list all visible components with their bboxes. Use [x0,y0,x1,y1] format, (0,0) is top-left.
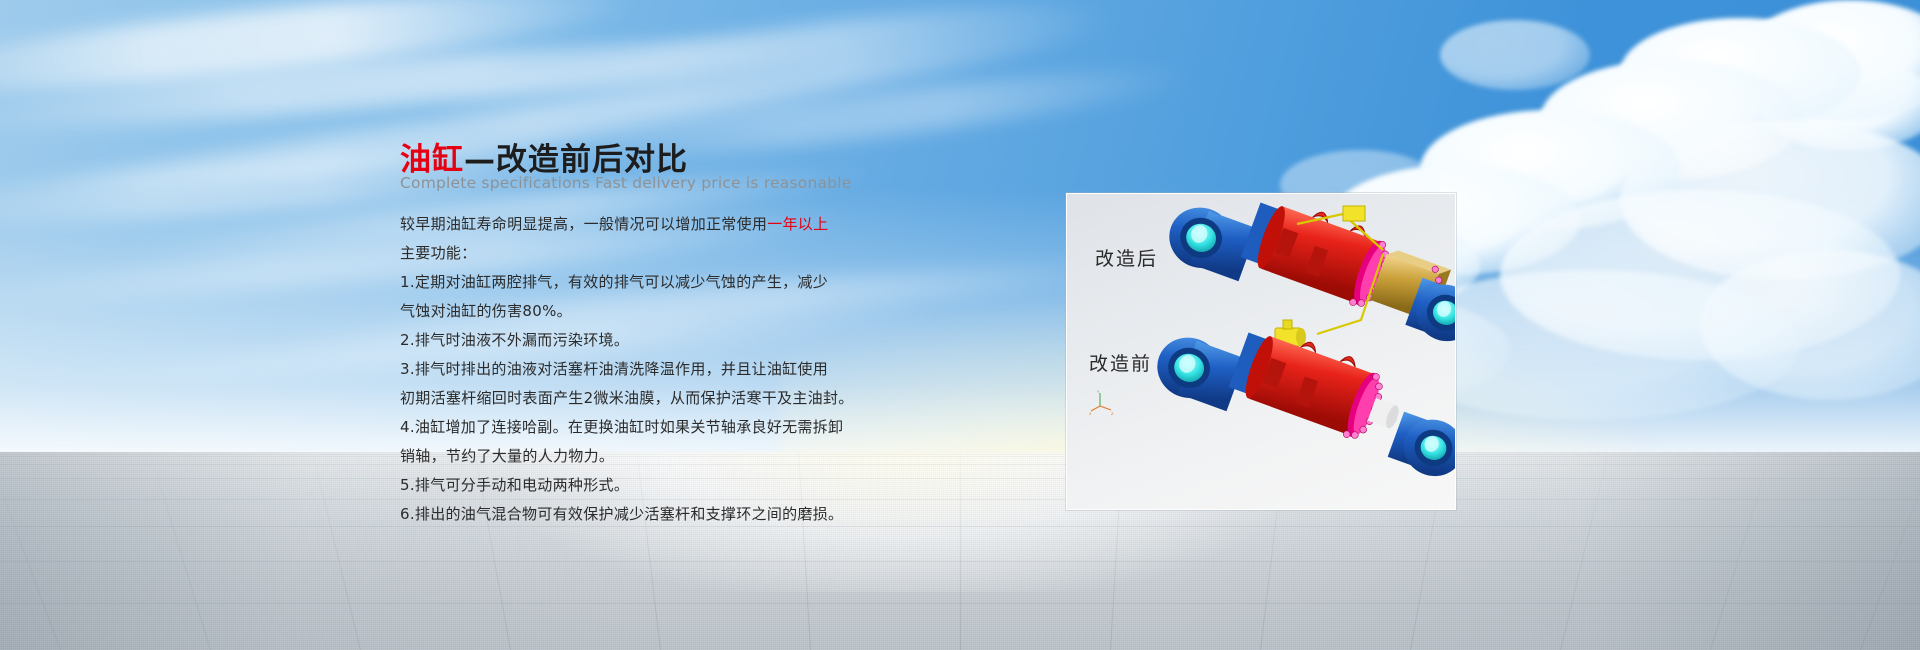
feature-line-text: 初期活塞杆缩回时表面产生2微米油膜，从而保护活寒干及主油封。 [400,389,854,407]
svg-text:Z: Z [1111,412,1114,416]
feature-line-text: 6.排出的油气混合物可有效保护减少活塞杆和支撑环之间的磨损。 [400,505,843,523]
feature-line-text: 1.定期对油缸两腔排气，有效的排气可以减少气蚀的产生，减少 [400,273,828,291]
feature-line: 1.定期对油缸两腔排气，有效的排气可以减少气蚀的产生，减少 [400,268,920,297]
feature-line: 3.排气时排出的油液对活塞杆油清洗降温作用，并且让油缸使用 [400,355,920,384]
feature-line: 销轴，节约了大量的人力物力。 [400,442,920,471]
page-title-highlight: 油缸 [400,142,464,178]
banner-content: 油缸—改造前后对比 Complete specifications Fast d… [0,0,1920,650]
feature-line-text: 3.排气时排出的油液对活塞杆油清洗降温作用，并且让油缸使用 [400,360,828,378]
feature-line: 初期活塞杆缩回时表面产生2微米油膜，从而保护活寒干及主油封。 [400,384,920,413]
feature-line-text: 主要功能： [400,244,477,262]
feature-line: 主要功能： [400,239,920,268]
feature-line-text: 气蚀对油缸的伤害80%。 [400,302,572,320]
feature-line: 6.排出的油气混合物可有效保护减少活塞杆和支撑环之间的磨损。 [400,500,920,529]
feature-line: 5.排气可分手动和电动两种形式。 [400,471,920,500]
page-subtitle: Complete specifications Fast delivery pr… [400,174,851,192]
cylinder-before-modification-illustration [1135,322,1455,507]
product-comparison-panel[interactable]: 改造后 改造前 Y X Z [1066,193,1456,510]
feature-line: 气蚀对油缸的伤害80%。 [400,297,920,326]
feature-line-text: 2.排气时油液不外漏而污染环境。 [400,331,629,349]
feature-line-emphasis: 一年以上 [767,215,828,233]
axis-triad-icon: Y X Z [1089,390,1115,416]
feature-description-list: 较早期油缸寿命明显提高，一般情况可以增加正常使用一年以上主要功能：1.定期对油缸… [400,210,920,529]
feature-line-text: 5.排气可分手动和电动两种形式。 [400,476,629,494]
page-title: 油缸—改造前后对比 [400,134,688,179]
feature-line: 较早期油缸寿命明显提高，一般情况可以增加正常使用一年以上 [400,210,920,239]
feature-line-text: 较早期油缸寿命明显提高，一般情况可以增加正常使用 [400,215,767,233]
svg-text:X: X [1089,412,1092,416]
banner-stage: 油缸—改造前后对比 Complete specifications Fast d… [0,0,1920,650]
feature-line: 4.油缸增加了连接哈副。在更换油缸时如果关节轴承良好无需拆卸 [400,413,920,442]
feature-line-text: 销轴，节约了大量的人力物力。 [400,447,614,465]
feature-line: 2.排气时油液不外漏而污染环境。 [400,326,920,355]
feature-line-text: 4.油缸增加了连接哈副。在更换油缸时如果关节轴承良好无需拆卸 [400,418,843,436]
page-title-rest: —改造前后对比 [464,142,688,178]
